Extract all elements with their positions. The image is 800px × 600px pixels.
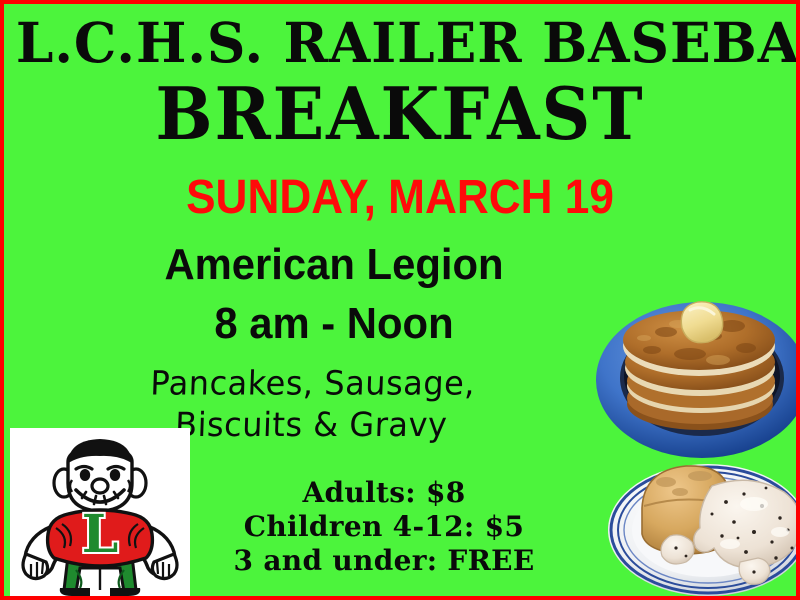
mascot-icon: L: [10, 428, 190, 596]
menu-item-line-1: Pancakes, Sausage,: [4, 362, 621, 404]
flyer-canvas: L.C.H.S. RAILER BASEBALL BREAKFAST SUNDA…: [4, 4, 796, 596]
pancake-stack-icon: [586, 276, 796, 466]
price-adults: Adults: $8: [164, 476, 604, 510]
jersey-letter: L: [82, 504, 119, 565]
flyer-poster: L.C.H.S. RAILER BASEBALL BREAKFAST SUNDA…: [0, 0, 800, 600]
mascot-logo: L: [10, 428, 190, 596]
biscuits-and-gravy-icon: [604, 444, 796, 596]
event-time: 8 am - Noon: [21, 300, 648, 348]
event-date: SUNDAY, MARCH 19: [36, 172, 765, 224]
page-title-line-2: BREAKFAST: [28, 76, 772, 152]
price-under-three: 3 and under: FREE: [164, 544, 604, 578]
price-children: Children 4-12: $5: [164, 510, 604, 544]
page-title-line-1: L.C.H.S. RAILER BASEBALL: [16, 14, 784, 72]
event-venue: American Legion: [21, 241, 648, 289]
biscuits-gravy-image: [604, 444, 796, 596]
price-list: Adults: $8 Children 4-12: $5 3 and under…: [164, 476, 604, 578]
pancakes-image: [586, 276, 796, 466]
